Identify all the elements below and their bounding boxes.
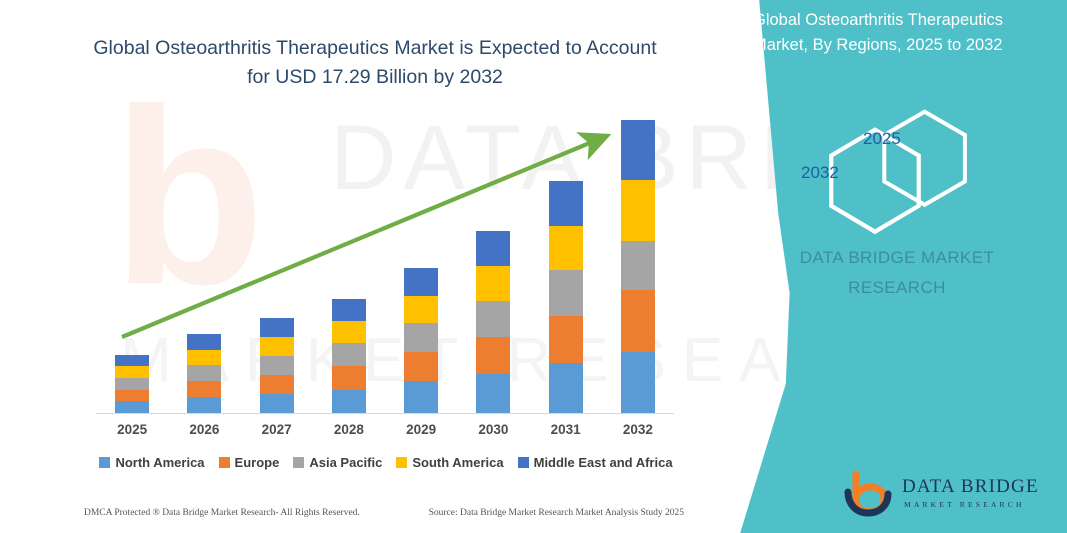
bar-segment xyxy=(404,381,438,413)
bar-segment xyxy=(187,381,221,397)
data-bridge-logo: DATA BRIDGE MARKET RESEARCH xyxy=(842,470,1042,522)
bar-segment xyxy=(260,375,294,394)
legend-item: Asia Pacific xyxy=(293,455,382,470)
bar-segment xyxy=(621,352,655,413)
logo-tagline: MARKET RESEARCH xyxy=(904,500,1025,509)
footer-copyright: DMCA Protected ® Data Bridge Market Rese… xyxy=(84,508,360,518)
x-axis-label: 2029 xyxy=(385,422,457,446)
bar-segment xyxy=(476,374,510,413)
bar-segment xyxy=(332,390,366,413)
legend-swatch-icon xyxy=(219,457,230,468)
hexagon-label-2025: 2025 xyxy=(863,129,901,149)
data-bridge-mark-icon xyxy=(842,470,897,518)
stacked-bar xyxy=(115,355,149,413)
legend-label: North America xyxy=(115,455,204,470)
bar-segment xyxy=(115,366,149,378)
right-panel-brand: DATA BRIDGE MARKET RESEARCH xyxy=(747,243,1047,303)
legend-swatch-icon xyxy=(99,457,110,468)
legend-label: Middle East and Africa xyxy=(534,455,673,470)
legend-item: North America xyxy=(99,455,204,470)
x-axis-label: 2025 xyxy=(96,422,168,446)
hexagon-outlines-icon xyxy=(687,0,1067,240)
x-axis-label: 2031 xyxy=(530,422,602,446)
right-teal-panel: Global Osteoarthritis Therapeutics Marke… xyxy=(687,0,1067,533)
x-axis-label: 2026 xyxy=(168,422,240,446)
x-axis-label: 2028 xyxy=(313,422,385,446)
bar-segment xyxy=(187,365,221,381)
legend-swatch-icon xyxy=(396,457,407,468)
hexagon-badges: 2025 2032 xyxy=(687,0,1067,240)
x-axis-label: 2030 xyxy=(457,422,529,446)
bar-segment xyxy=(115,378,149,390)
legend-swatch-icon xyxy=(293,457,304,468)
bar-segment xyxy=(549,363,583,413)
bar-segment xyxy=(115,390,149,402)
x-axis-line xyxy=(96,413,674,414)
hexagon-label-2032: 2032 xyxy=(801,163,839,183)
x-axis-labels: 20252026202720282029203020312032 xyxy=(96,422,674,446)
legend-label: Europe xyxy=(235,455,280,470)
bar-segment xyxy=(332,366,366,389)
legend-label: South America xyxy=(412,455,503,470)
chart-title: Global Osteoarthritis Therapeutics Marke… xyxy=(80,34,670,92)
legend-label: Asia Pacific xyxy=(309,455,382,470)
logo-name: DATA BRIDGE xyxy=(902,476,1039,498)
bar-segment xyxy=(187,397,221,413)
brand-line-2: RESEARCH xyxy=(747,273,1047,303)
legend-item: Europe xyxy=(219,455,280,470)
legend-item: Middle East and Africa xyxy=(518,455,673,470)
bar-segment xyxy=(115,401,149,413)
infographic-canvas: b DATA BRIDGE MARKET RESEARCH Global Ost… xyxy=(0,0,1067,533)
growth-arrow-icon xyxy=(96,110,674,360)
chart-legend: North AmericaEuropeAsia PacificSouth Ame… xyxy=(96,455,676,470)
brand-line-1: DATA BRIDGE MARKET xyxy=(747,243,1047,273)
legend-swatch-icon xyxy=(518,457,529,468)
footer: DMCA Protected ® Data Bridge Market Rese… xyxy=(84,508,684,518)
legend-item: South America xyxy=(396,455,503,470)
x-axis-label: 2027 xyxy=(241,422,313,446)
x-axis-label: 2032 xyxy=(602,422,674,446)
footer-source: Source: Data Bridge Market Research Mark… xyxy=(429,508,684,518)
bar-segment xyxy=(260,394,294,413)
